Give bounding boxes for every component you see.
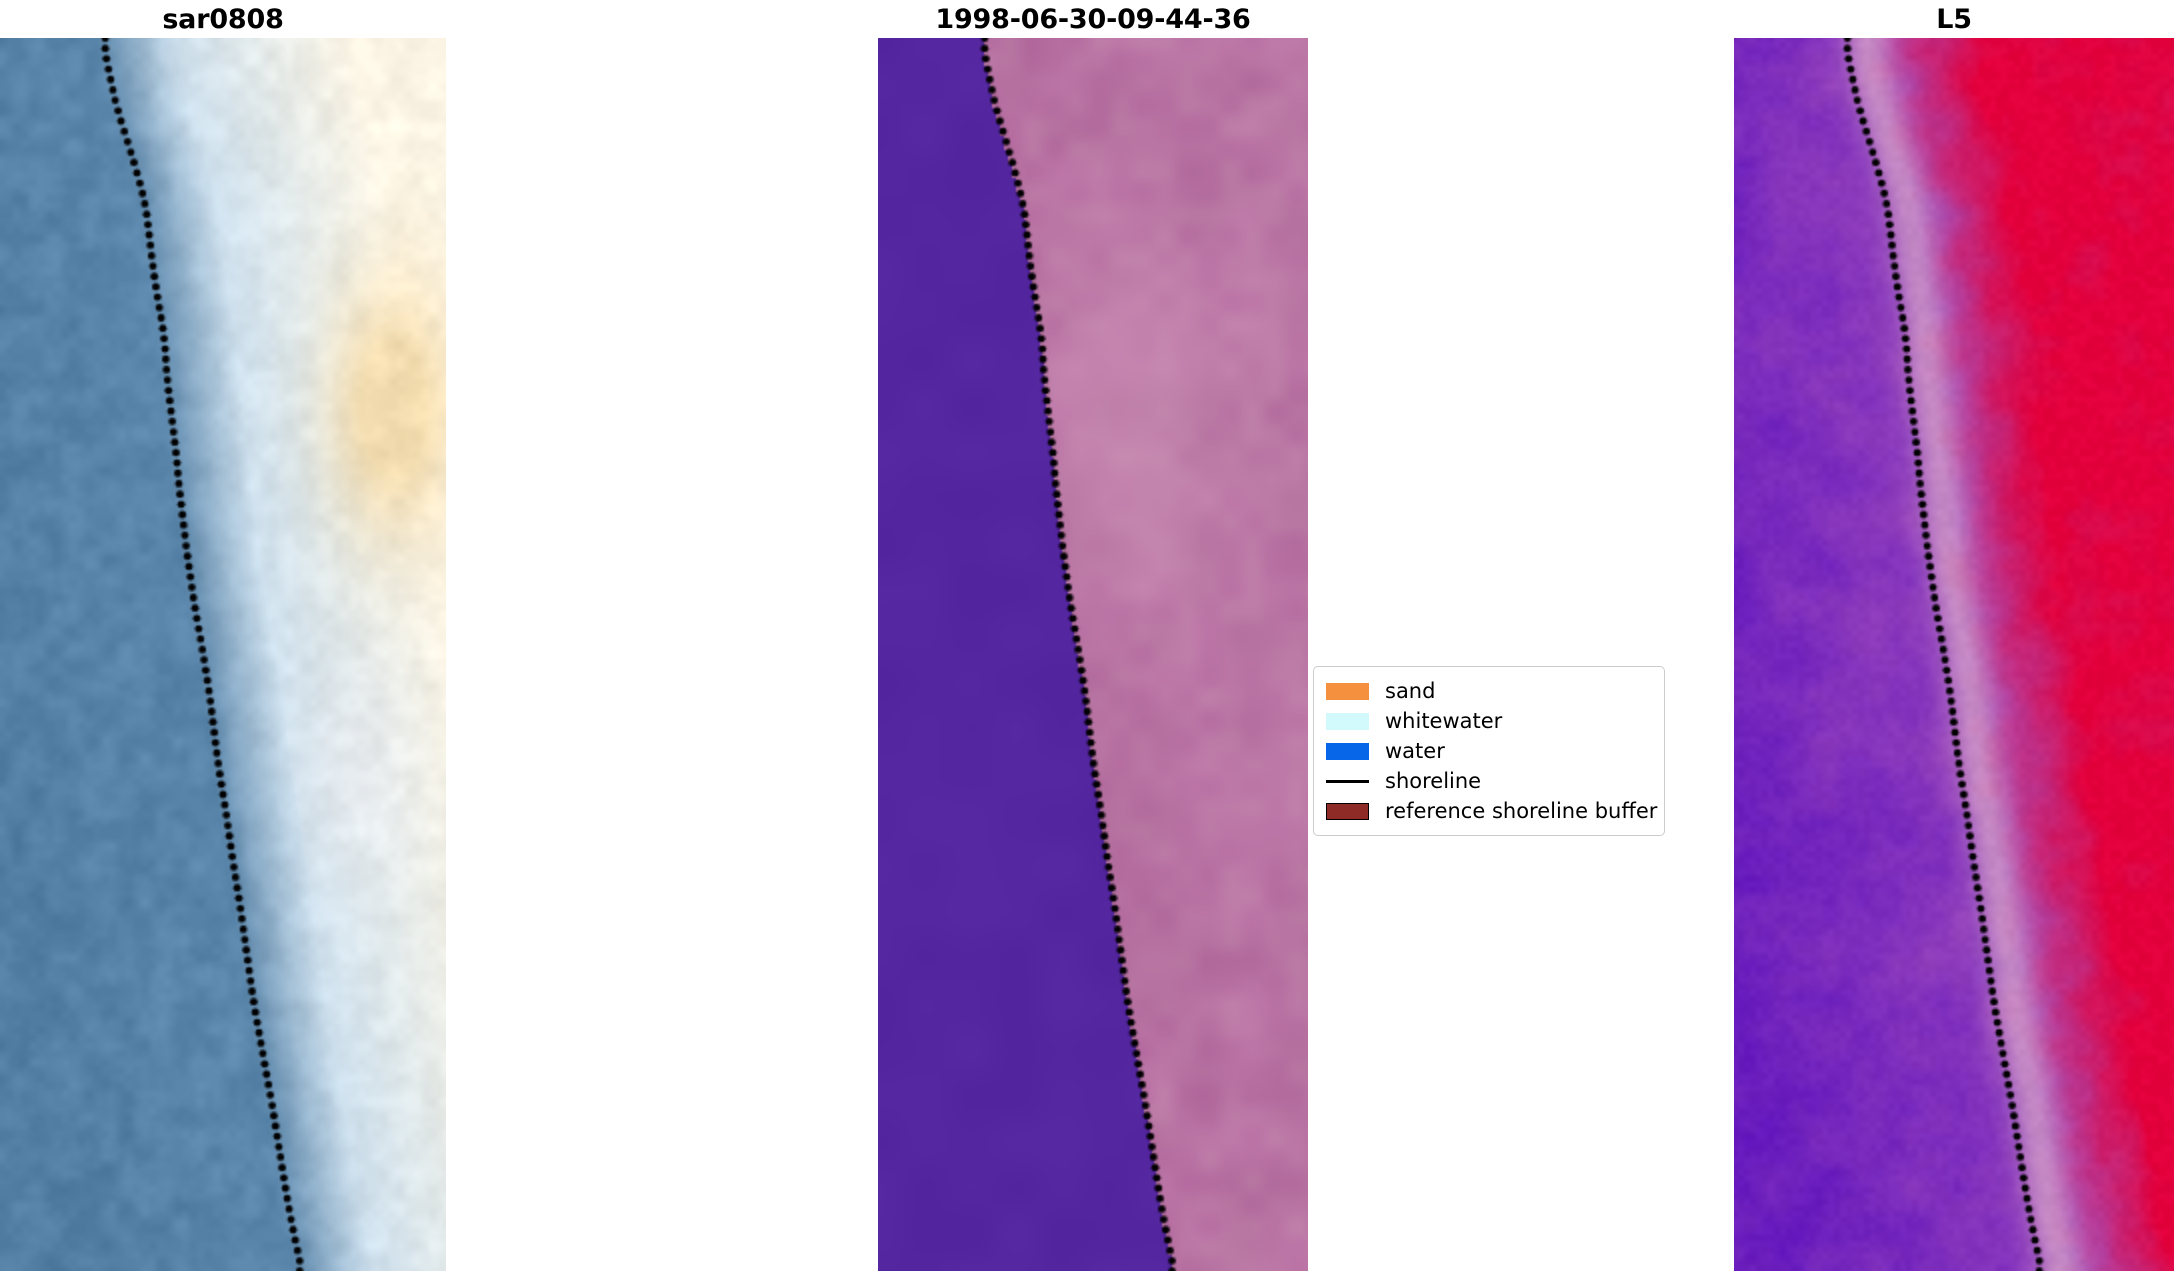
- legend-label-whitewater: whitewater: [1385, 709, 1502, 733]
- sar-raster: [0, 38, 446, 1271]
- legend-label-water: water: [1385, 739, 1445, 763]
- legend-label-sand: sand: [1385, 679, 1435, 703]
- legend-item-whitewater: whitewater: [1326, 706, 1653, 736]
- panel-title-l5: L5: [1734, 0, 2174, 40]
- legend-item-water: water: [1326, 736, 1653, 766]
- legend-item-reference-shoreline-buffer: reference shoreline buffer: [1326, 796, 1653, 826]
- legend-swatch-sand: [1326, 683, 1369, 700]
- legend-label-reference-shoreline-buffer: reference shoreline buffer: [1385, 799, 1657, 823]
- image-classification: [878, 38, 1308, 1271]
- legend-label-shoreline: shoreline: [1385, 769, 1481, 793]
- panel-sar0808: sar0808: [0, 0, 446, 1283]
- image-l5: [1734, 38, 2174, 1271]
- legend-swatch-reference-shoreline-buffer: [1326, 803, 1369, 820]
- panel-title-classification: 1998-06-30-09-44-36: [878, 0, 1308, 40]
- panel-l5: L5: [1734, 0, 2174, 1283]
- panel-classification: 1998-06-30-09-44-36: [878, 0, 1308, 1283]
- legend-swatch-whitewater: [1326, 713, 1369, 730]
- figure-canvas: sar0808 1998-06-30-09-44-36 L5 sand whit…: [0, 0, 2174, 1283]
- legend-swatch-water: [1326, 743, 1369, 760]
- legend: sand whitewater water shoreline referenc…: [1313, 666, 1665, 836]
- image-sar0808: [0, 38, 446, 1271]
- legend-item-shoreline: shoreline: [1326, 766, 1653, 796]
- l5-raster: [1734, 38, 2174, 1271]
- legend-item-sand: sand: [1326, 676, 1653, 706]
- legend-line-shoreline: [1326, 773, 1369, 790]
- classification-raster: [878, 38, 1308, 1271]
- panel-title-sar0808: sar0808: [0, 0, 446, 40]
